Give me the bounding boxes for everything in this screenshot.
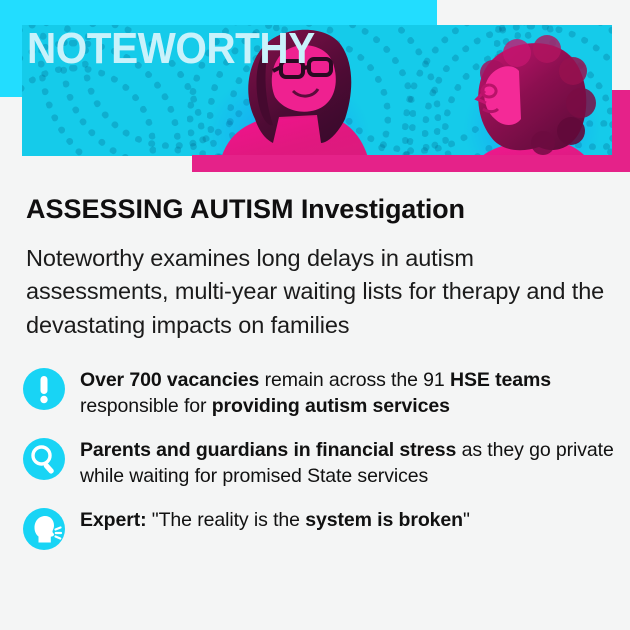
list-item: Expert: "The reality is the system is br… [22,506,622,551]
standfirst-paragraph: Noteworthy examines long delays in autis… [26,242,606,342]
hero-pink-bottom-band [192,155,630,172]
exclamation-circle-icon [22,367,66,411]
bottom-spacer [0,567,630,607]
brand-logo[interactable]: NOTEWORTHY [27,27,315,71]
list-item-label: Over 700 vacancies remain across the 91 … [80,366,622,420]
article-content: ASSESSING AUTISM Investigation Noteworth… [0,180,630,607]
headline-caps-part: ASSESSING AUTISM [26,194,294,224]
headline-rest-part: Investigation [294,194,465,224]
photo-woman-curly [447,33,612,156]
list-item-label: Parents and guardians in financial stres… [80,436,622,490]
page-title: ASSESSING AUTISM Investigation [26,194,630,225]
hero-header: NOTEWORTHY [0,0,630,180]
key-points-list: Over 700 vacancies remain across the 91 … [0,366,630,551]
list-item: Parents and guardians in financial stres… [22,436,622,490]
speaking-head-circle-icon [22,507,66,551]
list-item-label: Expert: "The reality is the system is br… [80,506,470,534]
list-item: Over 700 vacancies remain across the 91 … [22,366,622,420]
magnifier-circle-icon [22,437,66,481]
